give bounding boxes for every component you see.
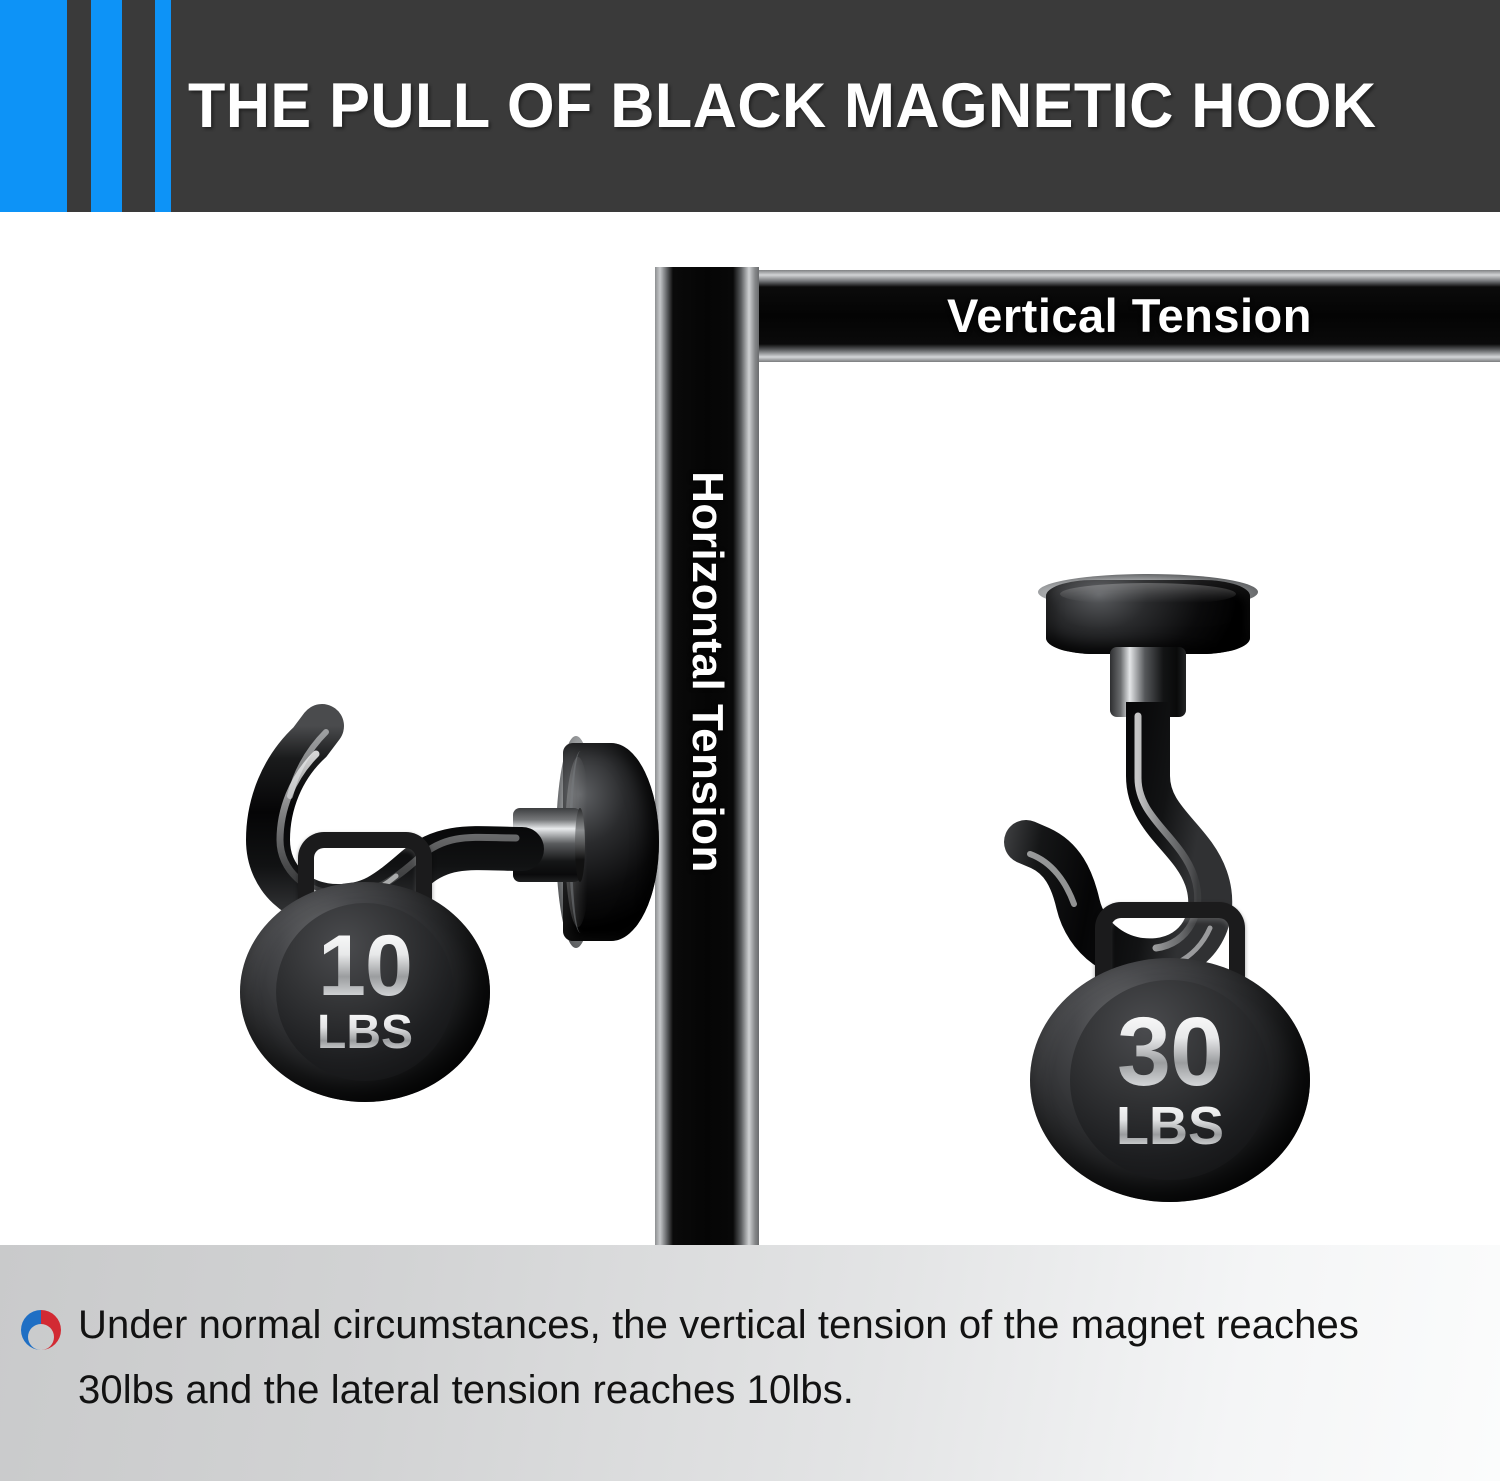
kettlebell-face: 10 LBS xyxy=(276,903,454,1081)
header-stripe-wide xyxy=(0,0,67,212)
caption-panel: Under normal circumstances, the vertical… xyxy=(0,1245,1500,1481)
weight-value: 10 xyxy=(318,927,412,1006)
diagram-stage: Vertical Tension Horizontal Tension xyxy=(0,212,1500,1245)
header-banner: THE PULL OF BLACK MAGNETIC HOOK xyxy=(0,0,1500,212)
kettlebell-ball: 30 LBS xyxy=(1030,958,1310,1202)
weight-value: 30 xyxy=(1117,1007,1223,1096)
page-title: THE PULL OF BLACK MAGNETIC HOOK xyxy=(188,0,1377,212)
weight-unit: LBS xyxy=(317,1009,413,1057)
infographic-page: THE PULL OF BLACK MAGNETIC HOOK Vertical… xyxy=(0,0,1500,1481)
caption-text: Under normal circumstances, the vertical… xyxy=(78,1293,1458,1423)
horizontal-beam: Vertical Tension xyxy=(759,270,1500,362)
magnet-disc-vertical xyxy=(1046,580,1250,654)
weight-10lbs: 10 LBS xyxy=(240,832,490,1102)
header-stripe-thin xyxy=(155,0,171,212)
header-stripe-medium xyxy=(91,0,122,212)
weight-30lbs: 30 LBS xyxy=(1030,902,1310,1202)
caption-inner: Under normal circumstances, the vertical… xyxy=(18,1293,1458,1423)
vertical-beam xyxy=(655,267,759,1245)
weight-unit: LBS xyxy=(1116,1099,1224,1153)
magnet-poles-ring-icon xyxy=(18,1307,64,1353)
kettlebell-ball: 10 LBS xyxy=(240,882,490,1102)
vertical-tension-label: Vertical Tension xyxy=(759,270,1500,362)
kettlebell-face: 30 LBS xyxy=(1070,980,1270,1180)
